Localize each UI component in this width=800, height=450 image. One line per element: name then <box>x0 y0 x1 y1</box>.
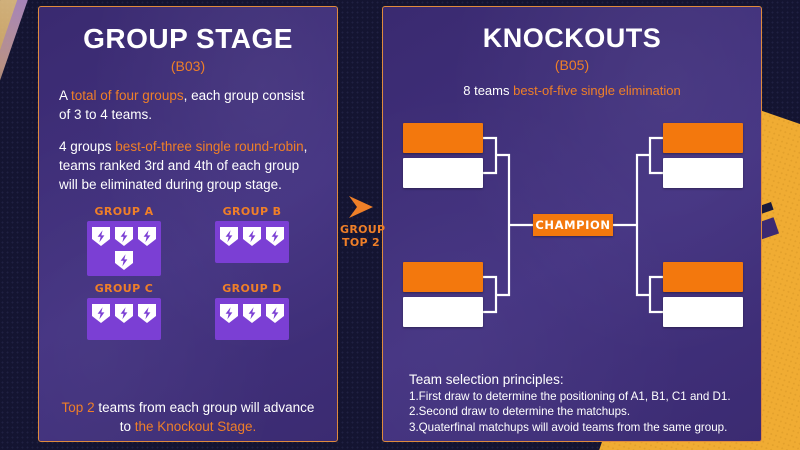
bracket-slot-left-4 <box>403 297 483 327</box>
group-label: GROUP B <box>215 205 289 218</box>
group-stage-outro-run-0: Top 2 <box>62 400 95 415</box>
group-stage-p2-run-1: best-of-three single round-robin <box>115 139 303 154</box>
group-stage-panel: GROUP STAGE (B03) A total of four groups… <box>38 6 338 442</box>
group-label: GROUP D <box>215 282 289 295</box>
principle-item: 1.First draw to determine the positionin… <box>409 389 749 404</box>
knockouts-title: KNOCKOUTS <box>383 23 761 54</box>
team-shield-icon <box>242 303 262 324</box>
group-team-tile <box>215 298 289 340</box>
arrow-label-line2: TOP 2 <box>342 236 380 249</box>
group-label: GROUP A <box>87 205 161 218</box>
team-shield-icon <box>137 303 157 324</box>
knockouts-code: (B05) <box>383 57 761 73</box>
group-team-tile <box>215 221 289 263</box>
team-shield-icon <box>91 303 111 324</box>
knockouts-subtitle-run-0: 8 teams <box>463 83 513 98</box>
chevron-right-arrow-icon <box>346 194 376 220</box>
bracket-slot-right-3 <box>663 262 743 292</box>
group-team-tile <box>87 221 161 276</box>
principle-item: 2.Second draw to determine the matchups. <box>409 404 749 419</box>
group-cell-c: GROUP C <box>87 282 161 340</box>
team-shield-icon <box>265 303 285 324</box>
arrow-label-line1: GROUP <box>340 223 385 236</box>
knockouts-subtitle: 8 teams best-of-five single elimination <box>383 83 761 98</box>
group-stage-paragraph-2: 4 groups best-of-three single round-robi… <box>59 138 317 194</box>
team-shield-icon <box>114 250 134 271</box>
team-shield-icon <box>137 226 157 247</box>
bracket-slot-right-1 <box>663 123 743 153</box>
team-shield-icon <box>219 303 239 324</box>
principle-item: 3.Quaterfinal matchups will avoid teams … <box>409 420 749 435</box>
group-advance-indicator: GROUP TOP 2 <box>340 194 382 250</box>
group-cell-d: GROUP D <box>215 282 289 340</box>
bracket-slot-left-1 <box>403 123 483 153</box>
principles-list: 1.First draw to determine the positionin… <box>409 389 749 435</box>
bracket-slot-right-4 <box>663 297 743 327</box>
group-stage-p1-run-0: A <box>59 88 71 103</box>
knockouts-panel: KNOCKOUTS (B05) 8 teams best-of-five sin… <box>382 6 762 442</box>
bracket-slot-left-3 <box>403 262 483 292</box>
team-shield-icon <box>219 226 239 247</box>
group-stage-p1-run-1: total of four groups <box>71 88 184 103</box>
group-stage-paragraph-1: A total of four groups, each group consi… <box>59 87 317 124</box>
team-shield-icon <box>242 226 262 247</box>
group-cell-b: GROUP B <box>215 205 289 276</box>
team-shield-icon <box>114 303 134 324</box>
team-selection-principles: Team selection principles: 1.First draw … <box>409 372 749 435</box>
bracket-slot-right-2 <box>663 158 743 188</box>
team-shield-icon <box>91 226 111 247</box>
group-stage-title: GROUP STAGE <box>39 23 337 55</box>
group-team-tile <box>87 298 161 340</box>
group-label: GROUP C <box>87 282 161 295</box>
principles-title: Team selection principles: <box>409 372 749 387</box>
team-shield-icon <box>114 226 134 247</box>
team-shield-icon <box>265 226 285 247</box>
champion-slot: CHAMPION <box>533 214 613 236</box>
group-stage-p2-run-0: 4 groups <box>59 139 115 154</box>
knockouts-subtitle-run-1: best-of-five single elimination <box>513 83 681 98</box>
group-stage-code: (B03) <box>39 58 337 74</box>
group-stage-outro-run-2: the Knockout Stage. <box>135 419 257 434</box>
group-cell-a: GROUP A <box>87 205 161 276</box>
bracket-slot-left-2 <box>403 158 483 188</box>
groups-grid: GROUP AGROUP BGROUP CGROUP D <box>71 205 305 340</box>
group-stage-outro: Top 2 teams from each group will advance… <box>57 399 319 437</box>
knockout-bracket: CHAMPION <box>383 111 762 346</box>
